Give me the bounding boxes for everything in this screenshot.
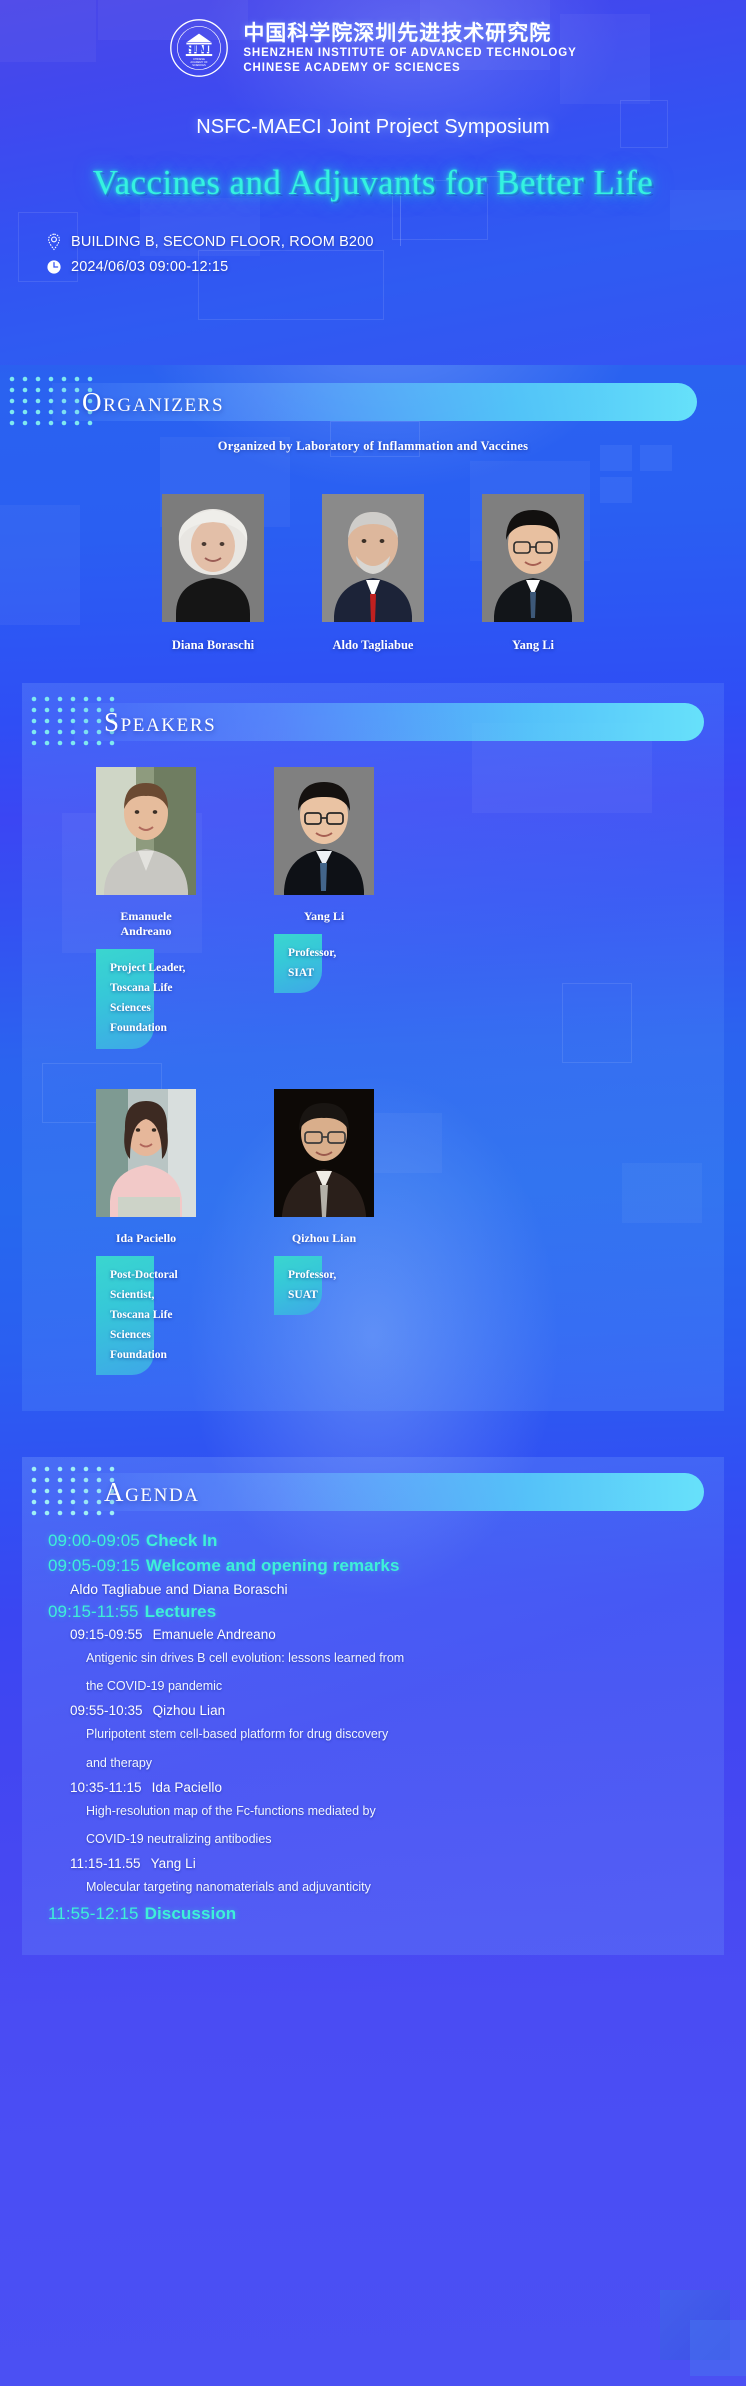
organizer-card: Aldo Tagliabue: [322, 494, 424, 653]
speaker-card: Emanuele Andreano Project Leader, Toscan…: [96, 767, 196, 1049]
agenda-talk-title: COVID-19 neutralizing antibodies: [86, 1828, 724, 1851]
speaker-affiliation-badge: Professor, SUAT: [274, 1256, 374, 1315]
agenda-label: Discussion: [145, 1904, 237, 1923]
agenda-major-item: 11:55-12:15Discussion: [48, 1904, 724, 1924]
organizers-section: Organizers Organized by Laboratory of In…: [0, 365, 746, 653]
speakers-row: Emanuele Andreano Project Leader, Toscan…: [22, 767, 724, 1049]
speaker-affiliation-text: Professor, SIAT: [288, 947, 336, 979]
speakers-heading-bar: Speakers: [22, 699, 724, 745]
agenda-major-item: 09:15-11:55Lectures: [48, 1602, 724, 1622]
event-location-row: BUILDING B, SECOND FLOOR, ROOM B200: [46, 233, 746, 251]
agenda-title: Agenda: [104, 1477, 200, 1508]
speakers-row: Ida Paciello Post-Doctoral Scientist, To…: [22, 1089, 724, 1376]
event-datetime-row: 2024/06/03 09:00-12:15: [46, 258, 746, 276]
organizer-name: Aldo Tagliabue: [322, 638, 424, 653]
speaker-name: Ida Paciello: [96, 1231, 196, 1246]
location-pin-icon: [46, 233, 62, 251]
svg-text:SCIENCES: SCIENCES: [193, 63, 207, 67]
event-location-text: BUILDING B, SECOND FLOOR, ROOM B200: [71, 234, 374, 250]
agenda-talk-title: Antigenic sin drives B cell evolution: l…: [86, 1647, 724, 1670]
speaker-name: Emanuele Andreano: [96, 909, 196, 939]
speaker-affiliation-badge: Project Leader, Toscana Life Sciences Fo…: [96, 949, 196, 1049]
organizers-heading-bar: Organizers: [0, 379, 746, 425]
speaker-affiliation-badge: Post-Doctoral Scientist, Toscana Life Sc…: [96, 1256, 196, 1376]
avatar: [322, 494, 424, 622]
agenda-talk-title: High-resolution map of the Fc-functions …: [86, 1800, 724, 1823]
agenda-lecture-item: 09:55-10:35Qizhou Lian: [70, 1703, 724, 1718]
agenda-lecture-item: 09:15-09:55Emanuele Andreano: [70, 1627, 724, 1642]
agenda-speaker-name: Yang Li: [151, 1856, 196, 1871]
speakers-section: Speakers: [22, 683, 724, 1411]
speaker-name: Yang Li: [274, 909, 374, 924]
agenda-label: Check In: [146, 1531, 218, 1550]
poster-main-title: Vaccines and Adjuvants for Better Life: [0, 163, 746, 203]
deco-rect: [660, 2290, 730, 2360]
agenda-heading-bar: Agenda: [22, 1469, 724, 1515]
agenda-time: 09:55-10:35: [70, 1703, 143, 1718]
avatar: [162, 494, 264, 622]
avatar: [274, 767, 374, 895]
agenda-time: 09:15-09:55: [70, 1627, 143, 1642]
organizer-name: Yang Li: [482, 638, 584, 653]
agenda-note: Aldo Tagliabue and Diana Boraschi: [70, 1581, 724, 1597]
symposium-subtitle: NSFC-MAECI Joint Project Symposium: [0, 116, 746, 139]
speaker-affiliation-badge: Professor, SIAT: [274, 934, 374, 993]
svg-text:ACADEMY OF: ACADEMY OF: [191, 60, 209, 64]
institute-name-en-line1: SHENZHEN INSTITUTE OF ADVANCED TECHNOLOG…: [243, 47, 576, 60]
agenda-talk-title: the COVID-19 pandemic: [86, 1675, 724, 1698]
organizers-title: Organizers: [82, 387, 224, 418]
speaker-card: Yang Li Professor, SIAT: [274, 767, 374, 1049]
poster-root: SIAT CHINESE ACADEMY OF SCIENCES 中国科学院深圳…: [0, 0, 746, 2386]
svg-text:SIAT: SIAT: [188, 44, 211, 55]
avatar: [96, 767, 196, 895]
agenda-list: 09:00-09:05Check In09:05-09:15Welcome an…: [48, 1531, 724, 1924]
agenda-lecture-item: 10:35-11:15Ida Paciello: [70, 1780, 724, 1795]
agenda-time: 11:15-11.55: [70, 1856, 141, 1871]
organizer-card: Yang Li: [482, 494, 584, 653]
agenda-talk-title: Pluripotent stem cell-based platform for…: [86, 1723, 724, 1746]
speaker-card: Qizhou Lian Professor, SUAT: [274, 1089, 374, 1376]
event-meta: BUILDING B, SECOND FLOOR, ROOM B200 2024…: [46, 233, 746, 276]
agenda-speaker-name: Emanuele Andreano: [153, 1627, 276, 1642]
speaker-affiliation-text: Post-Doctoral Scientist, Toscana Life Sc…: [110, 1269, 178, 1362]
agenda-time: 09:00-09:05: [48, 1531, 140, 1550]
avatar: [274, 1089, 374, 1217]
agenda-speaker-name: Qizhou Lian: [153, 1703, 226, 1718]
organizers-grid: Diana Boraschi Aldo: [0, 494, 746, 653]
agenda-time: 09:05-09:15: [48, 1556, 140, 1575]
agenda-talk-title: and therapy: [86, 1752, 724, 1775]
agenda-time: 09:15-11:55: [48, 1602, 139, 1621]
agenda-label: Lectures: [145, 1602, 217, 1621]
poster-header: SIAT CHINESE ACADEMY OF SCIENCES 中国科学院深圳…: [0, 0, 746, 365]
agenda-time: 10:35-11:15: [70, 1780, 142, 1795]
agenda-speaker-name: Ida Paciello: [152, 1780, 222, 1795]
institute-logo-row: SIAT CHINESE ACADEMY OF SCIENCES 中国科学院深圳…: [0, 18, 746, 78]
speaker-affiliation-text: Project Leader, Toscana Life Sciences Fo…: [110, 962, 185, 1034]
avatar: [482, 494, 584, 622]
svg-text:CHINESE: CHINESE: [193, 57, 205, 61]
organizer-card: Diana Boraschi: [162, 494, 264, 653]
event-datetime-text: 2024/06/03 09:00-12:15: [71, 259, 228, 275]
organizers-subtitle: Organized by Laboratory of Inflammation …: [0, 439, 746, 454]
speaker-affiliation-text: Professor, SUAT: [288, 1269, 336, 1301]
organizer-name: Diana Boraschi: [162, 638, 264, 653]
agenda-major-item: 09:00-09:05Check In: [48, 1531, 724, 1551]
clock-icon: [46, 258, 62, 276]
institute-text-block: 中国科学院深圳先进技术研究院 SHENZHEN INSTITUTE OF ADV…: [243, 21, 576, 76]
agenda-lecture-item: 11:15-11.55Yang Li: [70, 1856, 724, 1871]
speakers-title: Speakers: [104, 707, 216, 738]
deco-rect: [690, 2320, 746, 2376]
institute-name-cn: 中国科学院深圳先进技术研究院: [243, 21, 576, 45]
agenda-major-item: 09:05-09:15Welcome and opening remarks: [48, 1556, 724, 1576]
institute-name-en-line2: CHINESE ACADEMY OF SCIENCES: [243, 62, 576, 75]
avatar: [96, 1089, 196, 1217]
speaker-card: Ida Paciello Post-Doctoral Scientist, To…: [96, 1089, 196, 1376]
agenda-time: 11:55-12:15: [48, 1904, 139, 1923]
agenda-talk-title: Molecular targeting nanomaterials and ad…: [86, 1876, 724, 1899]
agenda-label: Welcome and opening remarks: [146, 1556, 400, 1575]
speaker-name: Qizhou Lian: [274, 1231, 374, 1246]
siat-seal-icon: SIAT CHINESE ACADEMY OF SCIENCES: [169, 18, 229, 78]
agenda-section: Agenda 09:00-09:05Check In09:05-09:15Wel…: [22, 1457, 724, 1955]
